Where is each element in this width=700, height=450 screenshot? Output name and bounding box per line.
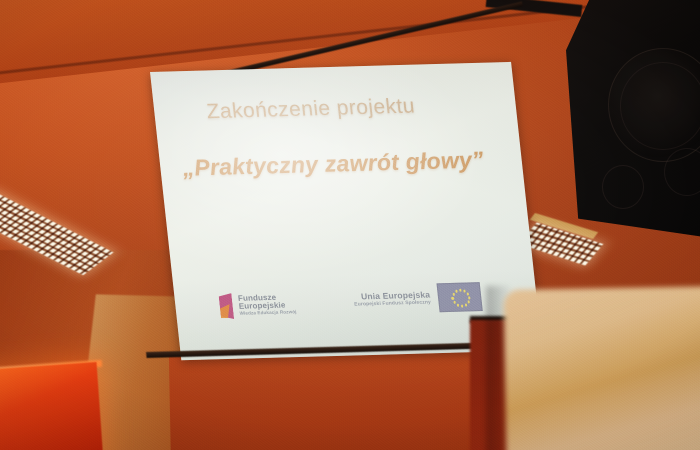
eu-flag-star [453,301,456,304]
unia-europejska-logo: Unia Europejska Europejski Fundusz Społe… [352,282,483,314]
fundusze-europejskie-mark-icon [218,293,236,319]
eu-flag-star [452,297,455,300]
eu-flag-star [459,289,462,292]
eu-flag-star [468,297,471,300]
fe-line3: Wiedza Edukacja Rozwój [239,311,296,317]
eu-flag-star [467,301,470,304]
fundusze-europejskie-text: Fundusze Europejskie Wiedza Edukacja Roz… [238,293,297,316]
speaker-tweeter-icon [602,165,644,209]
eu-flag-icon [437,282,483,312]
foreground-blurred-object [503,286,700,450]
backlit-red-panel [0,362,103,450]
eu-flag-star [452,293,455,296]
eu-flag-star [456,304,459,307]
eu-flag-star [463,290,466,293]
eu-flag-star [461,305,464,308]
speaker-woofer-inner [620,62,700,150]
eu-flag-star [455,290,458,293]
eu-line2: Europejski Fundusz Społeczny [354,300,431,308]
fundusze-europejskie-logo: Fundusze Europejskie Wiedza Edukacja Roz… [218,291,297,319]
photo-scene: Zakończenie projektu „Praktyczny zawrót … [0,0,700,450]
unia-europejska-text: Unia Europejska Europejski Fundusz Społe… [353,290,431,308]
eu-flag-star [466,293,469,296]
eu-flag-star [465,304,468,307]
